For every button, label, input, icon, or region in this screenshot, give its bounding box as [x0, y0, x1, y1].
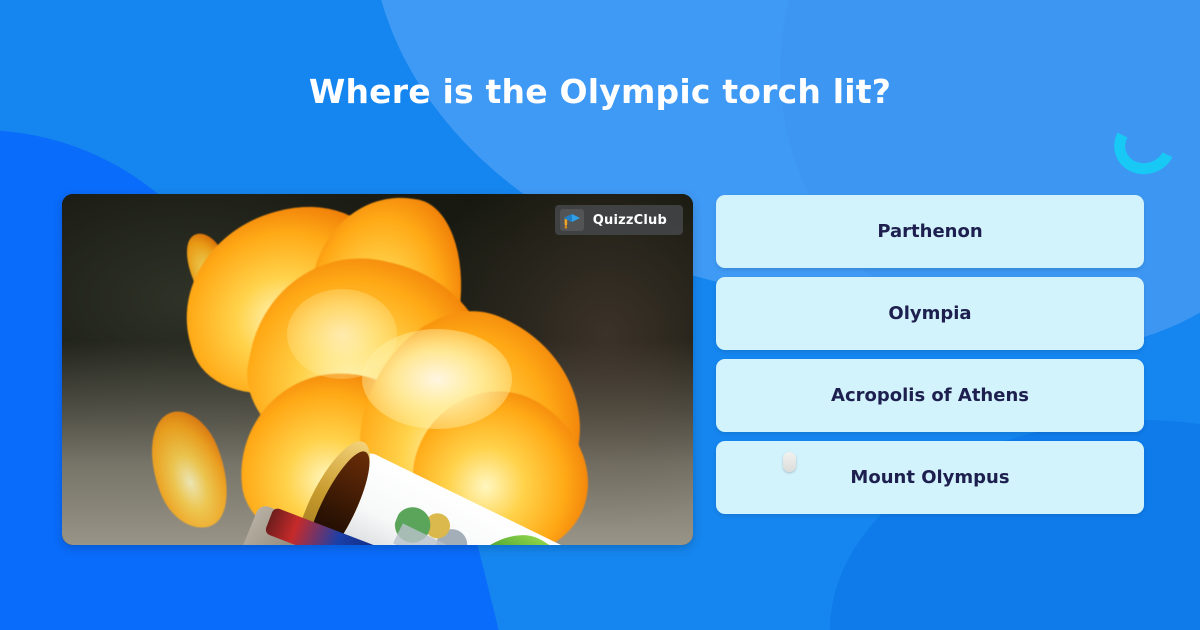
cursor-indicator — [783, 452, 796, 472]
brand-name: QuizzClub — [593, 213, 667, 228]
question-image-card: QuizzClub — [62, 194, 693, 545]
answer-options-list: Parthenon Olympia Acropolis of Athens Mo… — [716, 195, 1144, 514]
answer-option-3[interactable]: Acropolis of Athens — [716, 359, 1144, 432]
answer-option-2[interactable]: Olympia — [716, 277, 1144, 350]
answer-option-1[interactable]: Parthenon — [716, 195, 1144, 268]
flame-highlight-1 — [362, 329, 512, 429]
brand-badge[interactable]: QuizzClub — [555, 205, 683, 235]
answer-option-4[interactable]: Mount Olympus — [716, 441, 1144, 514]
torch-photo — [62, 194, 693, 545]
answer-option-4-label: Mount Olympus — [850, 467, 1009, 488]
answer-option-3-label: Acropolis of Athens — [831, 385, 1029, 406]
answer-option-1-label: Parthenon — [877, 221, 982, 242]
page-title: Where is the Olympic torch lit? — [0, 72, 1200, 111]
answer-option-2-label: Olympia — [888, 303, 971, 324]
graduation-cap-icon — [560, 209, 584, 231]
